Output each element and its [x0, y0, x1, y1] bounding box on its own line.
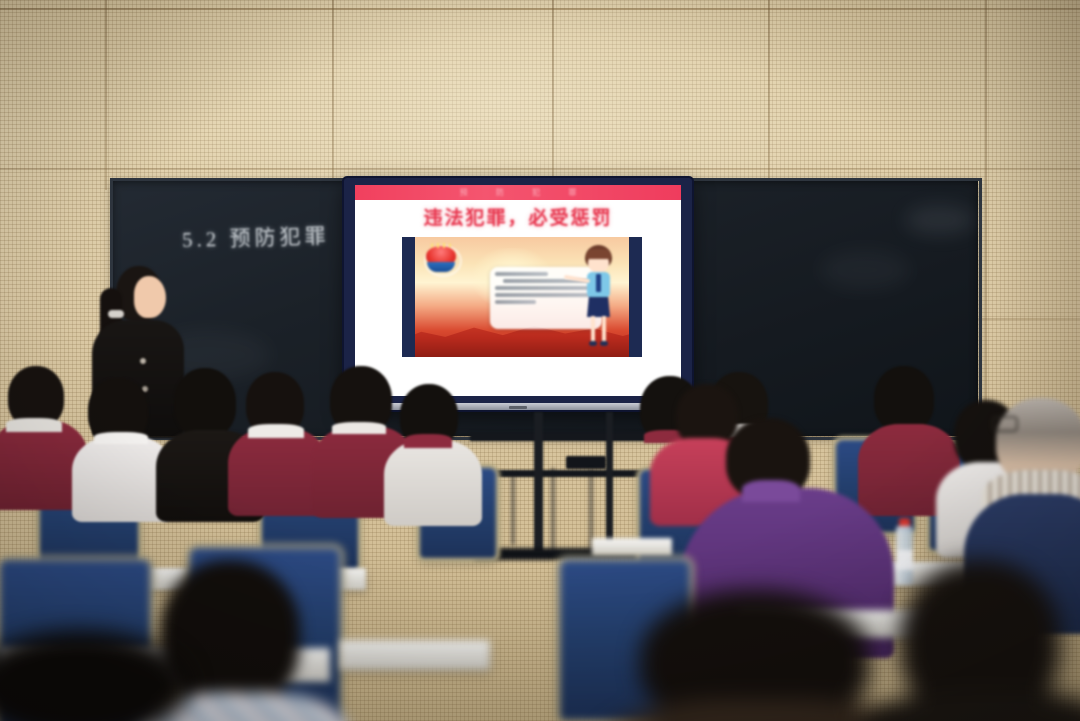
- student-uniform: [384, 440, 482, 526]
- speech-line: [495, 300, 536, 304]
- table: [592, 538, 672, 556]
- cartoon-policewoman: [576, 245, 620, 349]
- display-screen-bezel: 预 防 犯 罪 违法犯罪，必受惩罚: [344, 178, 692, 410]
- classroom-photo-scene: 5.2 预防犯罪 预 防 犯 罪 违法犯罪，必受惩罚: [0, 0, 1080, 721]
- teacher-face: [134, 276, 166, 318]
- emblem-stars: [431, 243, 451, 248]
- wall-seam-vertical: [552, 0, 554, 182]
- student-collar: [404, 434, 452, 448]
- wall-seam-vertical: [332, 0, 334, 182]
- character-shoe: [600, 341, 608, 346]
- slide-left-bar: [402, 237, 415, 357]
- slide-banner-text: 预 防 犯 罪: [355, 185, 681, 200]
- table: [340, 640, 490, 670]
- display-brand-logo: [509, 406, 527, 409]
- power-cable: [512, 475, 532, 545]
- bottle-label: [896, 550, 913, 570]
- character-tie: [596, 274, 601, 292]
- student-collar: [6, 418, 62, 432]
- blackboard-chalk-text: 5.2 预防犯罪: [182, 220, 330, 254]
- eyeglasses-icon: [992, 416, 1018, 432]
- blackboard-smudge: [905, 205, 975, 235]
- teacher-button: [140, 358, 146, 364]
- student-head: [174, 368, 236, 438]
- adult-shirt-collar: [742, 480, 800, 502]
- student-collar: [94, 432, 148, 444]
- presentation-slide: 预 防 犯 罪 违法犯罪，必受惩罚: [355, 185, 681, 396]
- character-shoe: [589, 341, 597, 346]
- police-emblem-icon: [424, 242, 458, 276]
- blackboard-smudge: [820, 250, 910, 290]
- wall-seam-vertical: [768, 0, 770, 182]
- water-bottle: [893, 518, 915, 584]
- character-fringe: [586, 249, 611, 259]
- power-cable: [552, 468, 576, 554]
- wall-seam-horizontal: [0, 168, 1080, 170]
- slide-illustration: [402, 237, 642, 357]
- character-leg: [591, 316, 595, 342]
- slide-title: 违法犯罪，必受惩罚: [355, 203, 681, 230]
- student-collar: [332, 422, 386, 434]
- slide-right-bar: [629, 237, 642, 357]
- teacher-hair-tie: [108, 310, 124, 318]
- student-collar: [248, 424, 304, 438]
- display-screen: 预 防 犯 罪 违法犯罪，必受惩罚: [355, 185, 681, 396]
- wall-seam-horizontal: [0, 8, 1080, 10]
- wall-seam-vertical: [105, 0, 107, 190]
- student-collar: [876, 420, 930, 433]
- tv-stand-column: [534, 412, 543, 552]
- character-skirt: [587, 297, 610, 317]
- character-leg: [602, 316, 606, 342]
- speech-line: [495, 272, 548, 276]
